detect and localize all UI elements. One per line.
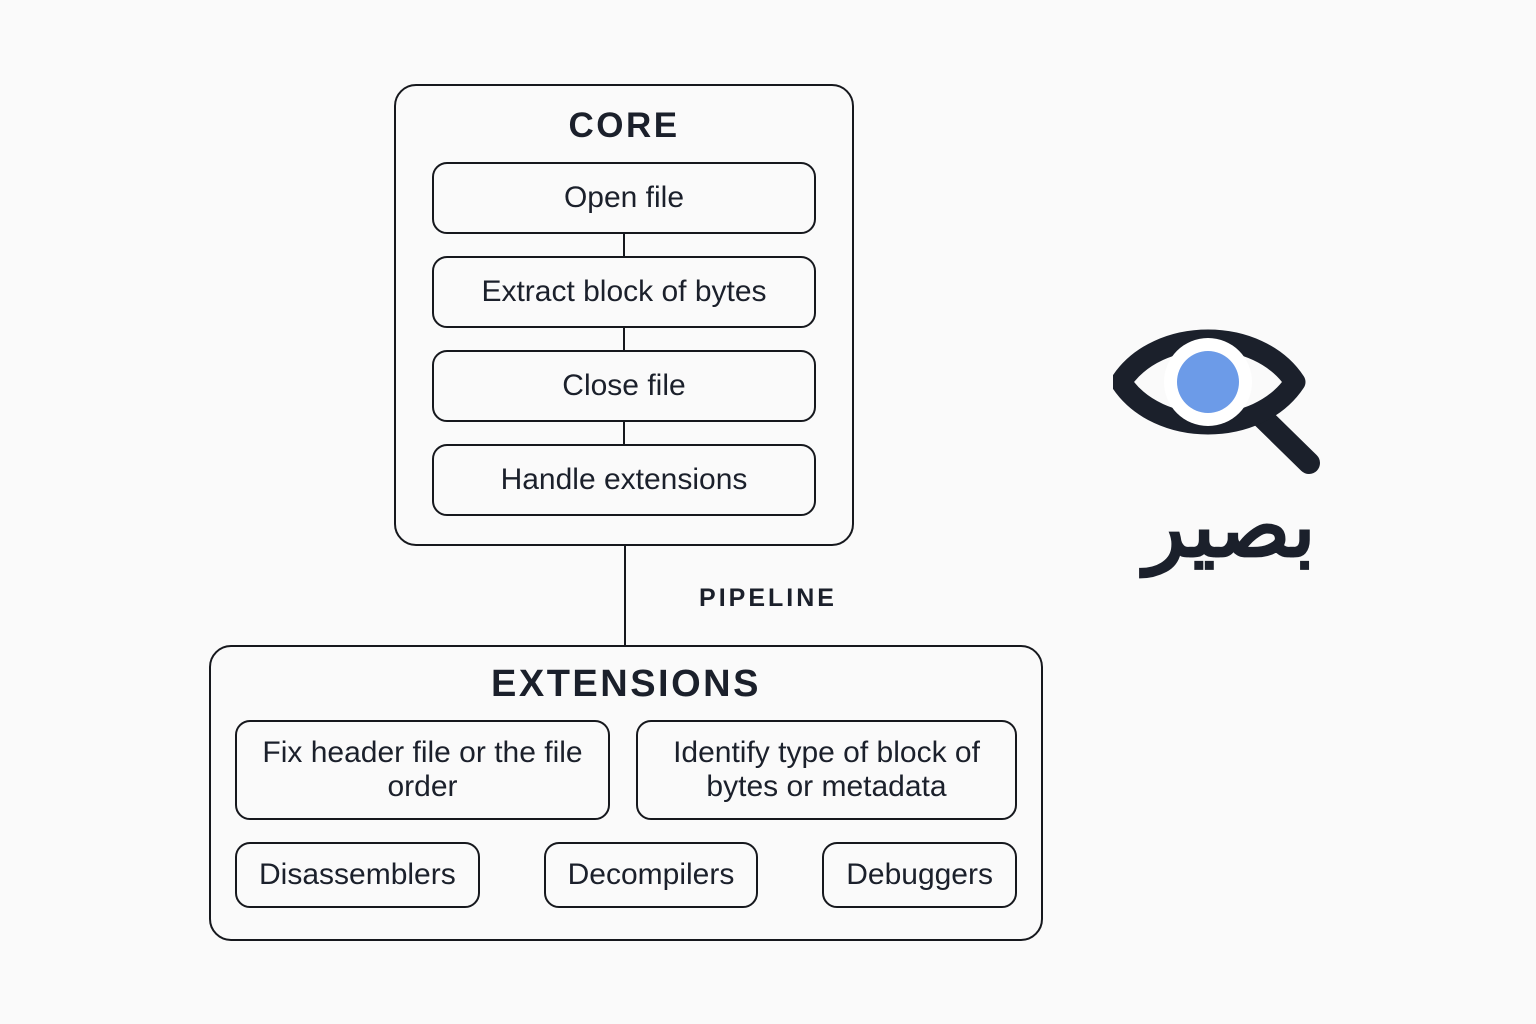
eye-iris-icon [1177,351,1239,413]
core-step-link-2 [623,328,625,352]
extensions-row-one: Fix header file or the file order Identi… [235,720,1017,820]
extension-disassemblers[interactable]: Disassemblers [235,842,480,908]
extension-decompilers[interactable]: Decompilers [544,842,759,908]
core-step-stack: Open file Extract block of bytes Close f… [396,162,852,516]
eye-magnifier-icon [1113,320,1348,480]
brand-wordmark: بصير [1100,482,1360,572]
brand-logo: بصير [1100,320,1360,590]
core-group: CORE Open file Extract block of bytes Cl… [394,84,854,546]
core-step-close-file[interactable]: Close file [432,350,816,422]
extension-debuggers[interactable]: Debuggers [822,842,1017,908]
core-step-extract-block-of-bytes[interactable]: Extract block of bytes [432,256,816,328]
core-step-link-3 [623,422,625,446]
pipeline-label-text: PIPELINE [689,582,847,615]
core-step-open-file[interactable]: Open file [432,162,816,234]
extension-identify-type-of-block-of-bytes-or-metadata[interactable]: Identify type of block of bytes or metad… [636,720,1017,820]
extensions-group-title: EXTENSIONS [211,663,1041,706]
extensions-row-two: Disassemblers Decompilers Debuggers [235,842,1017,908]
core-step-handle-extensions[interactable]: Handle extensions [432,444,816,516]
extensions-rows: Fix header file or the file order Identi… [211,720,1041,908]
extension-fix-header-file-or-the-file-order[interactable]: Fix header file or the file order [235,720,610,820]
extensions-group: EXTENSIONS Fix header file or the file o… [209,645,1043,941]
core-group-title: CORE [396,106,852,146]
core-step-link-1 [623,234,625,258]
diagram-canvas: CORE Open file Extract block of bytes Cl… [0,0,1536,1024]
magnifier-handle-icon [1261,416,1309,463]
